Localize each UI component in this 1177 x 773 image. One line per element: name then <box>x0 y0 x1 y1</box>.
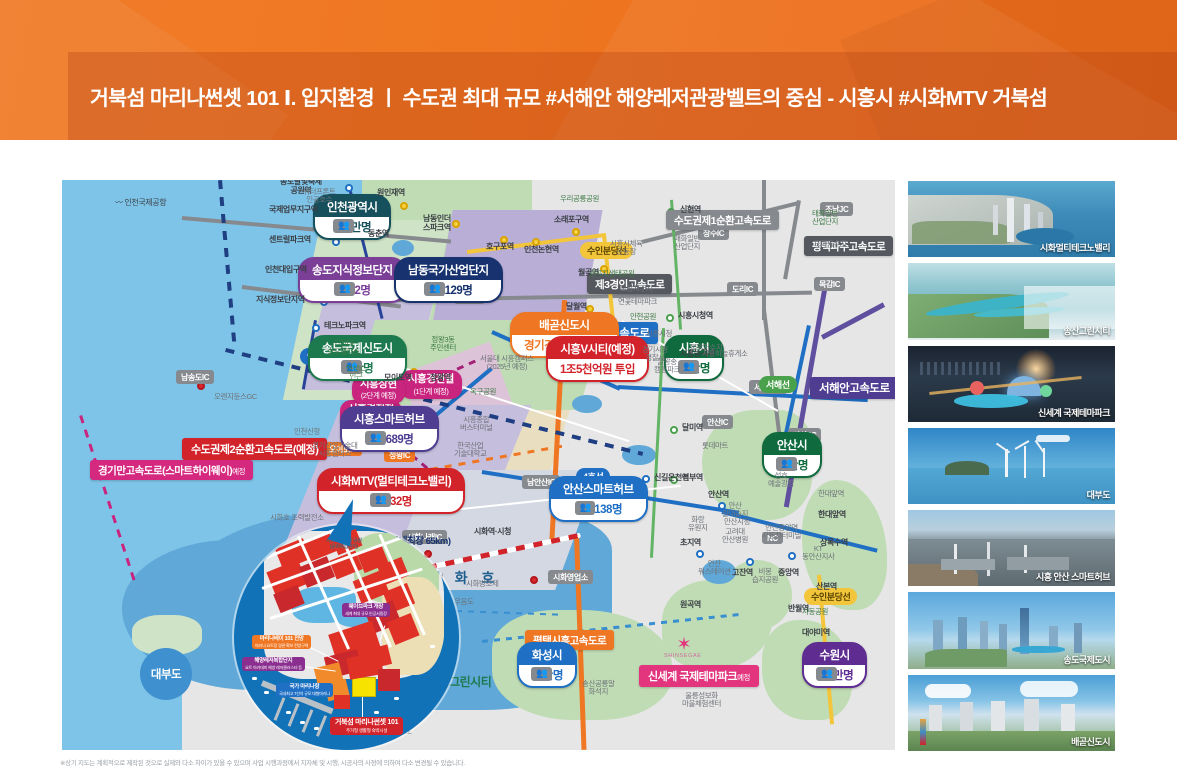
label-hwarang-park: 화랑유원지 <box>688 516 708 533</box>
label-kpu: 한국산업기술대학교 <box>454 442 487 459</box>
photo-baegot-new-town[interactable]: 배곧신도시 <box>908 675 1115 751</box>
photo-caption: 배곧신도시 <box>1071 735 1110 748</box>
inset-label-national-marina-sub: 국내최고 7선석 규모 대형마리나 <box>279 691 330 696</box>
label-anhyeon-park: 안현공원 <box>630 313 656 322</box>
label-snu-siheung-campus: 서울대 시흥캠퍼스(2025년 예정) <box>480 355 534 372</box>
poi-tag-shinsegae-label: 신세계 국제테마파크 <box>648 671 737 683</box>
people-icon: 👥 <box>575 501 596 515</box>
pill-suwon-city-value: 👥118만명 <box>804 665 865 686</box>
pill-songdo-knowledge-info-name: 송도지식정보단지 <box>300 259 405 280</box>
pill-suwon-city[interactable]: 수원시 👥118만명 <box>802 642 867 688</box>
photo-strip: 시화멀티테크노밸리 송산그린시티 신세계 국제테마파크 <box>908 181 1115 751</box>
highway-tag-gyeonggiman-label: 경기만고속도로(스마트하이웨이) <box>98 465 232 477</box>
rail-tag-siheung-janghyeon-2-sub: (2단계 예정) <box>361 391 396 400</box>
station-label-intl-business: 국제업무지구역 <box>269 205 318 214</box>
photo-factory-block <box>1007 557 1069 569</box>
station-dot-sihwa-toll <box>530 576 538 584</box>
label-ansan-worstation: 안산워스테이션 <box>698 560 731 577</box>
photo-cloud <box>925 684 971 698</box>
station-label-oido: 모이도역 <box>384 373 412 382</box>
photo-shinsegae-intl-theme-park[interactable]: 신세계 국제테마파크 <box>908 346 1115 422</box>
people-icon: 👥 <box>776 457 797 471</box>
label-gtec: 경기산업기술대시흥캠퍼스 <box>312 442 358 459</box>
label-siheung-rest-area: 시흥하늘휴게소 <box>702 350 748 359</box>
inset-boat <box>286 711 291 714</box>
inset-label-wave-park-sub: 세계 최대 규모 인공서핑장 <box>345 611 387 616</box>
inset-marina-pier <box>288 703 300 726</box>
inset-label-marine-leisure-complex: 해양레저복합단지 요트 아카데미 해양 레저클러스터 등 <box>242 657 305 671</box>
photo-bg <box>908 428 1115 504</box>
inset-label-geobukseom-title: 거북섬 마리나썬셋 101 <box>335 719 398 726</box>
label-siheung-city-hall-bldg: 시흥시청 <box>646 330 672 339</box>
label-lotus-theme-park: 연꽃테마파크 <box>618 298 657 307</box>
photo-island <box>945 461 989 475</box>
pill-siheung-smart-hub-name: 시흥스마트허브 <box>342 408 437 429</box>
station-dot-sorae <box>572 228 580 236</box>
photo-songsan-green-city[interactable]: 송산그린시티 <box>908 263 1115 339</box>
station-label-sinhyeon: 신현역 <box>680 205 701 214</box>
station-label-siheung-city-hall: 시흥시청역 <box>678 311 713 320</box>
photo-wind-turbine-tower <box>1005 449 1008 477</box>
inset-marina-pier <box>316 715 327 737</box>
photo-caption: 대부도 <box>1087 488 1110 501</box>
station-dot-woninjae <box>400 202 408 210</box>
label-siheung-bus-terminal: 시흥종합버스터미널 <box>460 416 493 433</box>
people-icon: 👥 <box>424 282 445 296</box>
inset-boat <box>264 691 269 694</box>
photo-tower <box>993 205 998 235</box>
photo-caption: 송도국제도시 <box>1063 653 1110 666</box>
label-siheung-sports-field: 시흥시체육운동장 <box>610 240 643 257</box>
station-label-hogupo: 호구포역 <box>486 242 514 251</box>
people-icon: 👥 <box>678 360 699 374</box>
label-taehwa-industrial: 태화일반산업단지 <box>812 210 838 227</box>
pill-sihwa-mtv-name: 시화MTV(멀티테크노밸리) <box>319 470 463 491</box>
pill-siheung-v-city[interactable]: 시흥V시티(예정) 1조5천억원 투입 <box>546 336 649 382</box>
small-reservoir-1 <box>572 395 602 413</box>
station-label-sihwa: 시화역·시청 <box>474 527 511 536</box>
photo-cloud <box>1036 435 1070 442</box>
label-songsan-dino-fossils: 송산공룡알화석지 <box>582 680 615 697</box>
pill-siheung-v-city-value: 1조5천억원 투입 <box>548 359 647 380</box>
label-sihwa-seawall: 시화방조제 <box>466 580 499 589</box>
inset-label-marina-bay-101-name: 마리나베이 101 전망 <box>260 636 304 642</box>
pill-suwon-city-name: 수원시 <box>804 644 865 665</box>
label-mulwang-camping: 물왕송캠핑파크 <box>654 358 680 375</box>
geobukseom-detail-inset[interactable]: 마리나베이 101 전망 마리나 요트장 경관 확보 전망구역 해양레저복합단지… <box>234 525 459 750</box>
photo-factory-block <box>941 559 995 570</box>
station-label-dongchun: 동춘역 <box>368 229 389 238</box>
station-label-wongok: 원곡역 <box>680 600 701 609</box>
pill-songdo-knowledge-info[interactable]: 송도지식정보단지 👥9,732명 <box>298 257 407 303</box>
ic-mokgam: 목감IC <box>814 277 845 291</box>
label-jeongwang-center: 정왕3동주민센터 <box>430 336 456 353</box>
ic-dori: 도리IC <box>727 282 758 296</box>
station-dot-songdo-dalbit <box>345 184 353 192</box>
station-dot-choji <box>696 550 704 558</box>
label-incheon-univ-songdo: 인천대송도캠퍼스 <box>327 340 360 357</box>
station-dot-gojan <box>746 558 754 566</box>
station-label-knowledge: 지식정보단지역 <box>256 295 305 304</box>
label-ansan-city-hall: 안산시청 <box>724 518 750 526</box>
photo-caption: 신세계 국제테마파크 <box>1038 406 1110 419</box>
photo-attraction <box>970 381 984 395</box>
label-bibong-wetland-park: 비봉습지공원 <box>752 568 778 585</box>
label-maehwa-industrial: 매화일반산업단지 <box>674 235 700 252</box>
label-korea-univ-ansan-hospital: 고려대안산병원 <box>722 528 748 545</box>
station-dot-technopark <box>312 324 320 332</box>
inset-block <box>334 695 350 709</box>
poi-tag-shinsegae-suffix: 예정 <box>737 673 750 682</box>
inset-label-marina-bay-101: 마리나베이 101 전망 마리나 요트장 경관 확보 전망구역 <box>252 635 311 649</box>
label-jeongwang-green: 연성IC인근 <box>346 365 366 382</box>
photo-caption: 시흥 안산 스마트허브 <box>1036 570 1110 583</box>
ic-sihwa-tollgate: 시화영업소 <box>548 570 593 584</box>
station-dot-siheung-city-hall <box>666 314 674 322</box>
photo-skyline <box>920 362 1003 374</box>
rail-badge-seohae-line: 서해선 <box>759 376 797 393</box>
people-icon: 👥 <box>370 493 391 507</box>
small-reservoir-4 <box>392 240 414 256</box>
map-base-layer: 남송도IC 연성IC 도리IC 목감IC 조남JC 군자JC 서안산IC 안산I… <box>62 180 895 750</box>
pill-namdong-industrial[interactable]: 남동국가산업단지 👥101,129명 <box>394 257 503 303</box>
rail-tag-light-rail-phase1-sub: (1단계 예정) <box>413 387 448 396</box>
inset-label-marine-leisure-complex-sub: 요트 아카데미 해양 레저클러스터 등 <box>245 665 302 670</box>
photo-park-green <box>925 649 1008 667</box>
station-label-sanbon: 산본역 <box>816 582 837 591</box>
pill-baegot-new-town-name: 배곧신도시 <box>512 314 617 335</box>
label-sadong-park: 사동공원 <box>802 608 828 617</box>
pill-namdong-industrial-value: 👥101,129명 <box>396 280 501 301</box>
shinsegae-flower-icon: ✶ <box>675 635 693 653</box>
label-uumdo: 우음도 <box>454 598 474 607</box>
highway-tag-seohaean: 서해안고속도로 <box>810 377 895 399</box>
people-icon: 👥 <box>333 219 354 233</box>
photo-caption: 시화멀티테크노밸리 <box>1040 241 1110 254</box>
label-sihwa-tidal-plant: 시화호 조력발전소 <box>270 514 324 523</box>
inset-label-geobukseom-subtitle: 주거형 생활형 숙박시설 <box>335 728 398 734</box>
pill-siheung-v-city-name: 시흥V시티(예정) <box>548 338 647 359</box>
inset-marina-pier <box>274 697 286 720</box>
inset-boat <box>300 721 305 724</box>
photo-pool <box>954 394 1029 408</box>
label-dobuk: 도화육수지 <box>814 240 847 249</box>
photo-wind-turbine-tower <box>1024 446 1027 478</box>
photo-songdo-international-city[interactable]: 송도국제도시 <box>908 592 1115 668</box>
poi-tag-shinsegae-theme-park: 신세계 국제테마파크예정 <box>639 665 759 687</box>
station-label-namdong: 남동인더스파크역 <box>423 215 451 233</box>
label-kt-dongansan: KT동안산지사 <box>802 545 835 562</box>
inset-geobukseom-parcel <box>352 677 376 697</box>
inset-label-marine-leisure-complex-name: 해양레저복합단지 <box>254 658 292 664</box>
station-dot-jungang <box>788 552 796 560</box>
photo-park-water <box>1012 646 1066 654</box>
station-label-incheon-univ: 인천대입구역 <box>265 265 307 274</box>
people-icon: 👥 <box>334 282 355 296</box>
station-dot-namdong <box>452 220 460 228</box>
station-label-central-park: 센트럴파크역 <box>269 235 311 244</box>
shinsegae-wordmark: SHINSEGAE <box>664 653 702 659</box>
photo-sihwa-multi-techno-valley[interactable]: 시화멀티테크노밸리 <box>908 181 1115 257</box>
inset-label-wave-park: 웨이브파크 개장 세계 최대 규모 인공서핑장 <box>342 603 390 617</box>
label-ansan-city-hall-east: 한대앞역 <box>818 490 844 499</box>
header-band: 거북섬 마리나썬셋 101 Ⅰ. 입지환경 ㅣ 수도권 최대 규모 #서해안 해… <box>68 52 1177 140</box>
station-label-dalwol: 달월역 <box>566 302 587 311</box>
region-map[interactable]: 남송도IC 연성IC 도리IC 목감IC 조남JC 군자JC 서안산IC 안산I… <box>62 180 895 750</box>
people-icon: 👥 <box>816 667 837 681</box>
page-title: 거북섬 마리나썬셋 101 Ⅰ. 입지환경 ㅣ 수도권 최대 규모 #서해안 해… <box>68 81 1047 111</box>
highway-tag-ring-2: 수도권제2순환고속도로(예정) <box>182 438 327 460</box>
people-icon: 👥 <box>531 667 552 681</box>
label-village-center: 울릉성보화마을체험센터 <box>682 692 721 709</box>
footnote-disclaimer: ※상기 지도는 계획적으로 제작된 것으로 실제와 다소 차이가 있을 수 있으… <box>60 757 960 767</box>
photo-siheung-ansan-smart-hub[interactable]: 시흥 안산 스마트허브 <box>908 510 1115 586</box>
pill-ansan-city[interactable]: 안산시 👥65만명 <box>762 432 822 478</box>
inset-label-marina-bay-101-sub: 마리나 요트장 경관 확보 전망구역 <box>255 643 308 648</box>
photo-tower <box>1007 198 1014 242</box>
pill-songdo-knowledge-info-value: 👥9,732명 <box>300 280 405 301</box>
pill-hwaseong-city[interactable]: 화성시 👥85만명 <box>517 642 577 688</box>
label-lotte-mart: 롯데마트 <box>702 442 728 451</box>
slide-page: 거북섬 마리나썬셋 101 Ⅰ. 입지환경 ㅣ 수도권 최대 규모 #서해안 해… <box>0 0 1177 773</box>
station-label-daeyami: 대야미역 <box>802 628 830 637</box>
photo-city-haze <box>1024 286 1115 329</box>
station-label-handaeap: 한대앞역 <box>818 510 846 519</box>
photo-cloud <box>1020 681 1078 697</box>
road-pyeongtaek-paju <box>762 180 766 320</box>
station-label-dalmi: 달미역 <box>682 423 703 432</box>
station-label-sorae: 소래포구역 <box>554 215 589 224</box>
ic-ansan: 안산IC <box>702 415 733 429</box>
label-dochang-reservoir: 도창저수지 <box>620 285 653 294</box>
label-incheon-airport: 〰 인천국제공항 <box>115 198 166 207</box>
label-ansan-terminal: 안산중앙역자동차터미널 <box>762 524 801 541</box>
label-seongho-art-plaza: 성호예술광장 <box>768 472 794 489</box>
pill-ansan-city-name: 안산시 <box>764 434 820 455</box>
ic-namsongdo: 남송도IC <box>176 370 214 384</box>
station-label-choji: 초지역 <box>680 538 701 547</box>
people-icon: 👥 <box>365 431 386 445</box>
highway-tag-gyeonggiman: 경기만고속도로(스마트하이웨이)예정 <box>90 460 253 480</box>
label-okgu-park: 옥구공원 <box>470 388 496 397</box>
station-label-woninjae: 원인재역 <box>377 188 405 197</box>
station-label-gojan: 고잔역 <box>732 568 753 577</box>
pill-ansan-smart-hub-value: 👥114,138명 <box>551 499 646 520</box>
label-gwangokji-eco-park: 관곡지생태공원 <box>589 270 635 279</box>
pill-namdong-industrial-name: 남동국가산업단지 <box>396 259 501 280</box>
photo-tower <box>1074 623 1082 653</box>
inset-boat <box>374 711 379 714</box>
pill-hwaseong-city-value: 👥85만명 <box>519 665 575 686</box>
inset-boat <box>252 677 257 680</box>
photo-totem-pole <box>920 719 926 745</box>
station-label-jungang: 중앙역 <box>778 568 799 577</box>
inset-block <box>378 669 400 691</box>
inset-boat <box>394 697 399 700</box>
photo-caption: 송산그린시티 <box>1063 324 1110 337</box>
label-incheon-new-port: 인천신항 <box>294 428 320 437</box>
station-label-jeongwang: 정왕역 <box>430 373 451 382</box>
station-label-technopark: 테크노파크역 <box>324 321 366 330</box>
highway-tag-gyeonggiman-suffix: 예정 <box>232 467 245 476</box>
pill-ansan-smart-hub-name: 안산스마트허브 <box>551 478 646 499</box>
label-waterfront-lake: 워터프론트인공호수 <box>303 188 336 205</box>
inset-boat <box>430 645 435 648</box>
inset-label-national-marina: 국가 마리나항 국내최고 7선석 규모 대형마리나 <box>276 683 333 697</box>
label-dino-park: 우리공룡공원 <box>560 195 599 204</box>
inset-label-geobukseom-marina-sunset-101: 거북섬 마리나썬셋 101 주거형 생활형 숙박시설 <box>330 717 403 735</box>
inset-label-national-marina-name: 국가 마리나항 <box>290 684 320 690</box>
place-name-daebudo: 대부도 <box>140 648 192 700</box>
inset-label-wave-park-name: 웨이브파크 개장 <box>349 604 384 610</box>
station-label-ansan: 안산역 <box>708 490 729 499</box>
station-label-nonhyeon: 인천논현역 <box>524 245 559 254</box>
label-orange-dunes-gc: 오렌지듄스GC <box>214 393 257 402</box>
pill-hwaseong-city-name: 화성시 <box>519 644 575 665</box>
inset-leader-geobukseom <box>362 697 363 719</box>
station-dot-dalmi <box>670 426 678 434</box>
photo-daebudo[interactable]: 대부도 <box>908 428 1115 504</box>
station-label-seonbu: 선부역 <box>682 473 703 482</box>
inset-boat <box>314 727 319 730</box>
pill-ansan-smart-hub[interactable]: 안산스마트허브 👥114,138명 <box>549 476 648 522</box>
